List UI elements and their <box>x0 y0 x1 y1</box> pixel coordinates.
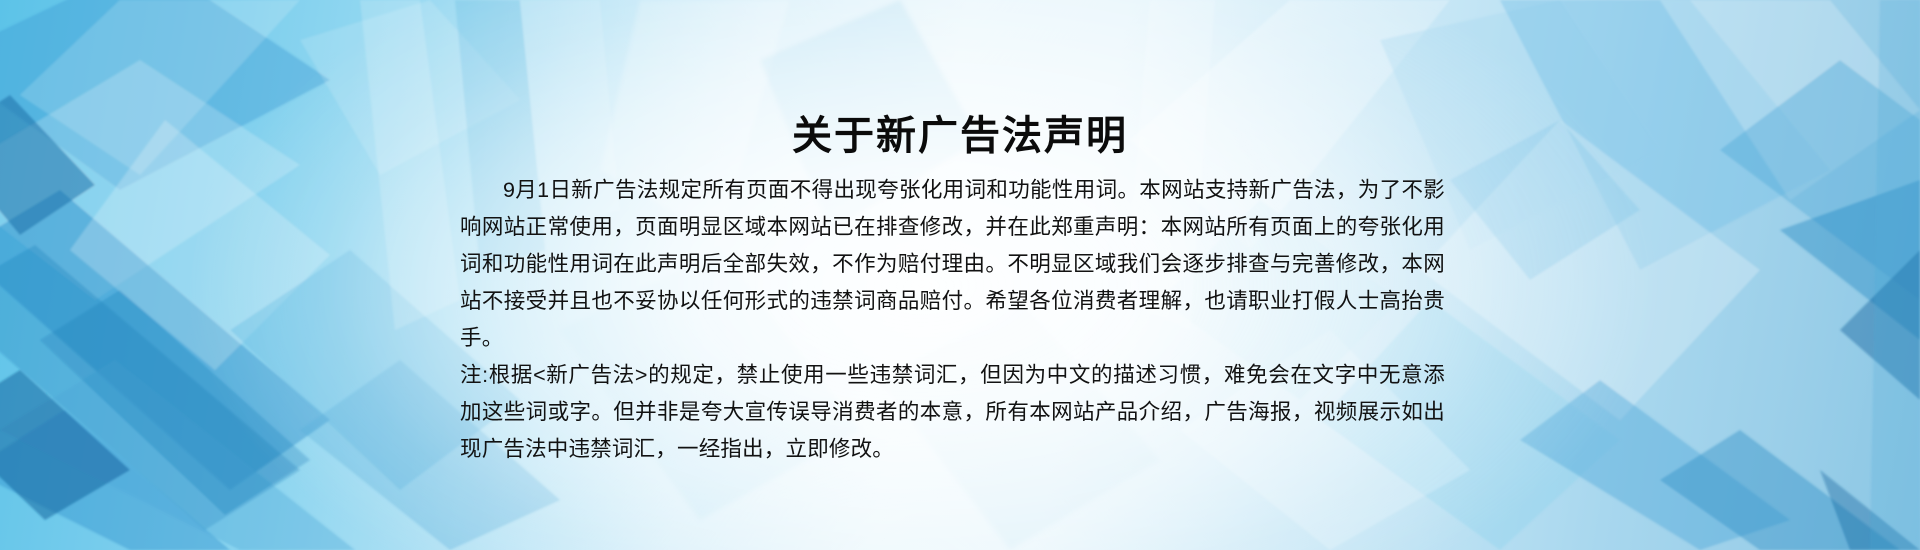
page-title: 关于新广告法声明 <box>0 112 1920 160</box>
statement-body: 9月1日新广告法规定所有页面不得出现夸张化用词和功能性用词。本网站支持新广告法，… <box>460 172 1445 468</box>
statement-content: 关于新广告法声明 9月1日新广告法规定所有页面不得出现夸张化用词和功能性用词。本… <box>0 0 1920 550</box>
statement-paragraph-1: 9月1日新广告法规定所有页面不得出现夸张化用词和功能性用词。本网站支持新广告法，… <box>460 172 1445 357</box>
advertising-law-statement-banner: 关于新广告法声明 9月1日新广告法规定所有页面不得出现夸张化用词和功能性用词。本… <box>0 0 1920 550</box>
statement-paragraph-2: 注:根据<新广告法>的规定，禁止使用一些违禁词汇，但因为中文的描述习惯，难免会在… <box>460 357 1445 468</box>
